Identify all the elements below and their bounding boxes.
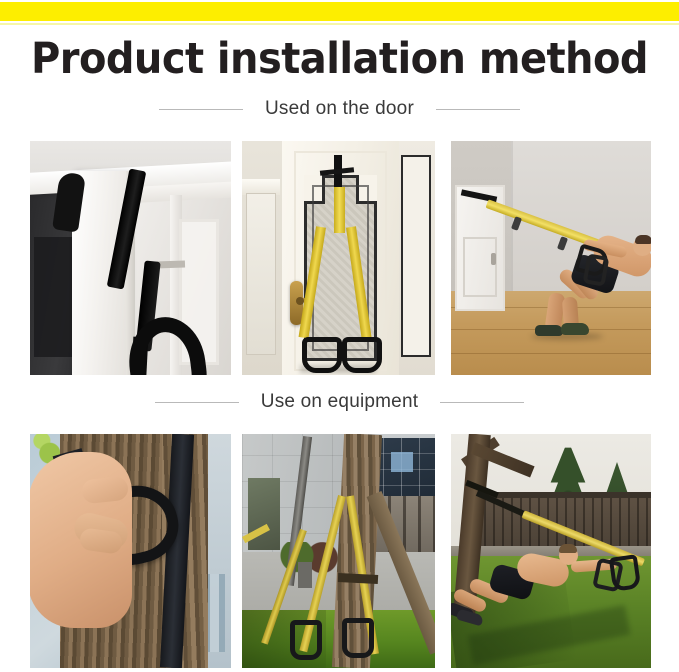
shoe-front (561, 323, 589, 335)
section-divider-equipment: Use on equipment (0, 389, 679, 415)
building-roofline (475, 492, 651, 498)
athlete-hair (635, 235, 651, 244)
banner-accent-bar (0, 2, 679, 21)
athlete-hair (559, 544, 577, 553)
photo-row-equipment (0, 434, 679, 668)
section-label-equipment: Use on equipment (261, 390, 418, 414)
section-divider-door: Used on the door (0, 96, 679, 122)
photo-door-anchor-closeup[interactable] (30, 141, 231, 375)
wall-right-trim (401, 155, 431, 357)
divider-rule-left (155, 402, 239, 403)
divider-rule-right (440, 402, 524, 403)
door-knob (491, 253, 496, 265)
floor-shadow (300, 365, 376, 373)
photo-3-scene (451, 141, 651, 375)
dark-room-panel (34, 237, 74, 357)
banner-hairline (0, 23, 679, 25)
building-alcove (248, 478, 280, 550)
window-highlight (391, 452, 413, 472)
photo-2-scene (242, 141, 435, 375)
photo-outdoor-chest-fly[interactable] (451, 434, 651, 668)
photo-6-scene (451, 434, 651, 668)
top-banner (0, 0, 679, 28)
handle-grip-left (290, 620, 322, 660)
photo-1-scene (30, 141, 231, 375)
anchor-door-panel (463, 237, 497, 297)
divider-rule-left (159, 109, 243, 110)
divider-rule-right (436, 109, 520, 110)
floor-plank-line (451, 353, 651, 354)
photo-4-scene (30, 434, 231, 668)
photo-trainer-hanging-on-door[interactable] (242, 141, 435, 375)
pole-base (298, 562, 312, 588)
shoe-back (535, 325, 563, 336)
wall-left-panel (246, 193, 276, 355)
page-title: Product installation method (24, 32, 655, 86)
photo-straps-anchored-to-tree[interactable] (242, 434, 435, 668)
photo-row-door (0, 141, 679, 375)
photo-indoor-inverted-row[interactable] (451, 141, 651, 375)
photo-5-scene (242, 434, 435, 668)
photo-carabiner-on-tree-strap[interactable] (30, 434, 231, 668)
section-label-door: Used on the door (265, 97, 414, 121)
yellow-strap-main (334, 187, 345, 233)
handle-grip-right (342, 618, 374, 658)
